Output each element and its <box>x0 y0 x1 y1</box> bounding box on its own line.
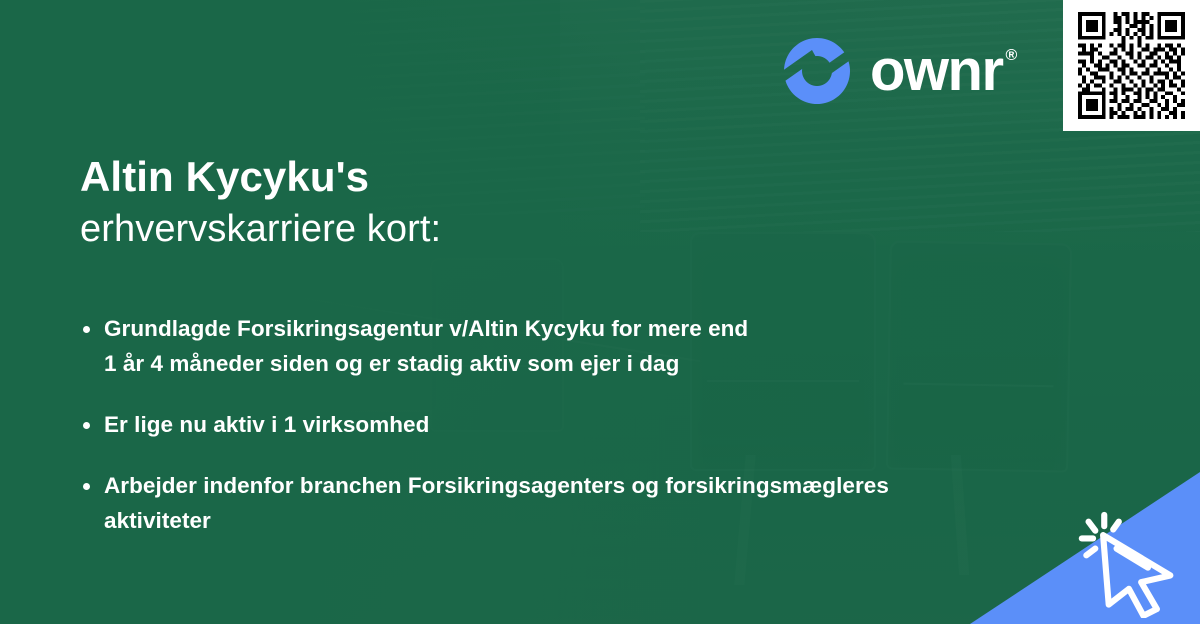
list-item-line-2: 1 år 4 måneder siden og er stadig aktiv … <box>104 351 679 376</box>
qr-code-panel[interactable] <box>1063 0 1200 131</box>
list-item: Er lige nu aktiv i 1 virksomhed <box>80 408 1040 443</box>
list-item-line-2: aktiviteter <box>104 508 211 533</box>
qr-code-icon <box>1074 8 1189 123</box>
registered-trademark-icon: ® <box>1006 48 1016 64</box>
ownr-wordmark: ownr ® <box>870 42 1016 100</box>
career-facts-list: Grundlagde Forsikringsagentur v/Altin Ky… <box>80 312 1040 538</box>
page-title: Altin Kycyku's erhvervskarriere kort: <box>80 152 441 253</box>
business-career-card: ownr ® <box>0 0 1200 624</box>
list-item-line-1: Er lige nu aktiv i 1 virksomhed <box>104 412 429 437</box>
list-item: Grundlagde Forsikringsagentur v/Altin Ky… <box>80 312 1040 382</box>
ownr-wordmark-text: ownr <box>870 42 1003 100</box>
bullet-dot-icon <box>83 326 90 333</box>
title-line-1: Altin Kycyku's <box>80 152 441 202</box>
list-item-line-1: Grundlagde Forsikringsagentur v/Altin Ky… <box>104 316 748 341</box>
mouse-cursor-click-icon <box>1074 506 1186 618</box>
list-item-line-1: Arbejder indenfor branchen Forsikringsag… <box>104 473 889 498</box>
list-item: Arbejder indenfor branchen Forsikringsag… <box>80 469 1040 539</box>
bullet-dot-icon <box>83 422 90 429</box>
ownr-circle-logo-icon <box>782 36 852 106</box>
bullet-dot-icon <box>83 483 90 490</box>
ownr-logo[interactable]: ownr ® <box>782 36 1016 106</box>
title-line-2: erhvervskarriere kort: <box>80 206 441 254</box>
